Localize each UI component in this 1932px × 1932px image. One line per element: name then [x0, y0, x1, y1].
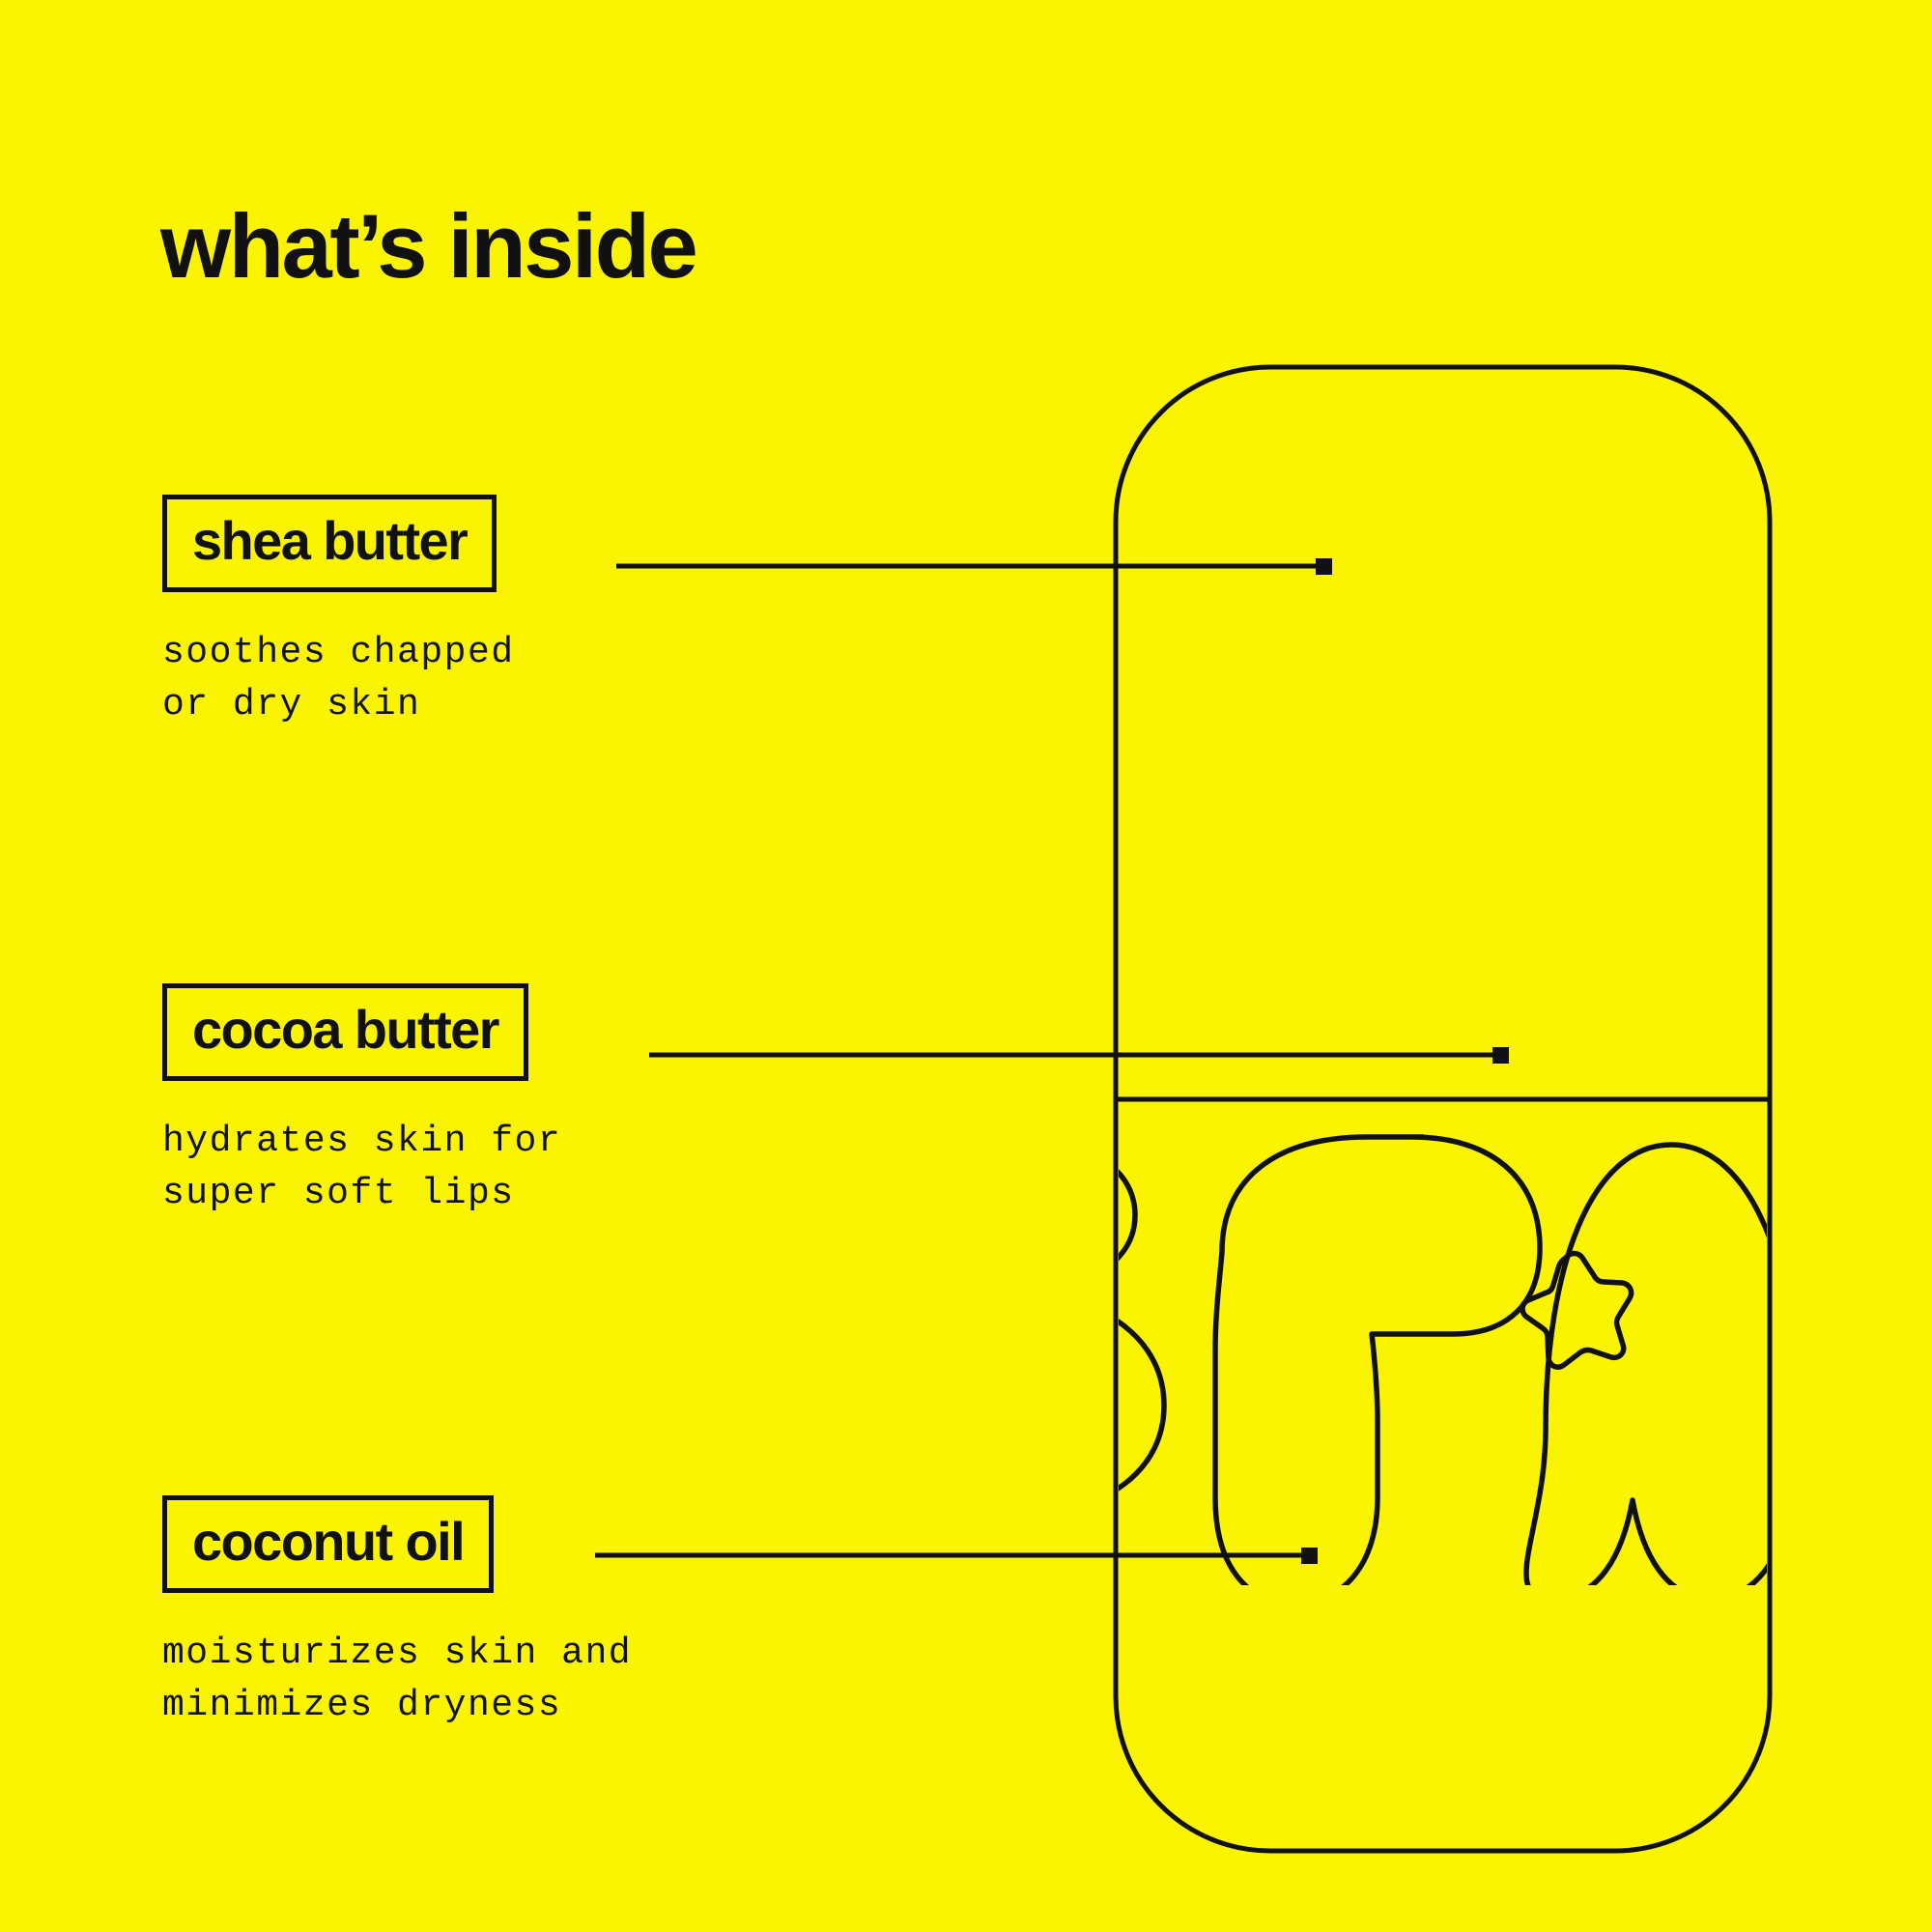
bubble-letter-b — [1024, 1140, 1164, 1515]
square-endpoint-icon-cocoa-butter — [1492, 1047, 1509, 1064]
square-endpoint-icon-coconut-oil — [1301, 1548, 1318, 1564]
ingredient-block-shea-butter: shea butter soothes chapped or dry skin — [162, 495, 515, 731]
bubble-letter-t — [1215, 1137, 1540, 1604]
bubble-letter-a — [1526, 1145, 1799, 1599]
ingredient-label-box-shea-butter[interactable]: shea butter — [162, 495, 497, 592]
ingredient-label-cocoa-butter: cocoa butter — [192, 1002, 498, 1059]
page-title: what’s inside — [160, 201, 696, 292]
bubble-letter-c — [1781, 1169, 1932, 1583]
lip-balm-tube-icon — [1116, 367, 1770, 1851]
ingredient-description-cocoa-butter: hydrates skin for super soft lips — [162, 1116, 561, 1220]
ingredient-description-coconut-oil: moisturizes skin and minimizes dryness — [162, 1628, 632, 1732]
ingredient-label-box-cocoa-butter[interactable]: cocoa butter — [162, 983, 528, 1081]
ingredient-block-coconut-oil: coconut oil moisturizes skin and minimiz… — [162, 1495, 632, 1732]
connector-shea-butter — [616, 558, 1332, 575]
star-icon — [1522, 1254, 1632, 1368]
square-endpoint-icon-shea-butter — [1316, 558, 1332, 575]
poster-canvas: what’s inside shea butter soothes chappe… — [0, 0, 1932, 1932]
tube-bubble-lettering — [1024, 1137, 1932, 1604]
ingredient-block-cocoa-butter: cocoa butter hydrates skin for super sof… — [162, 983, 561, 1220]
connector-cocoa-butter — [649, 1047, 1509, 1064]
ingredient-label-shea-butter: shea butter — [192, 513, 467, 570]
connector-coconut-oil — [595, 1548, 1318, 1564]
ingredient-label-coconut-oil: coconut oil — [192, 1514, 464, 1571]
ingredient-label-box-coconut-oil[interactable]: coconut oil — [162, 1495, 494, 1593]
ingredient-description-shea-butter: soothes chapped or dry skin — [162, 627, 515, 731]
